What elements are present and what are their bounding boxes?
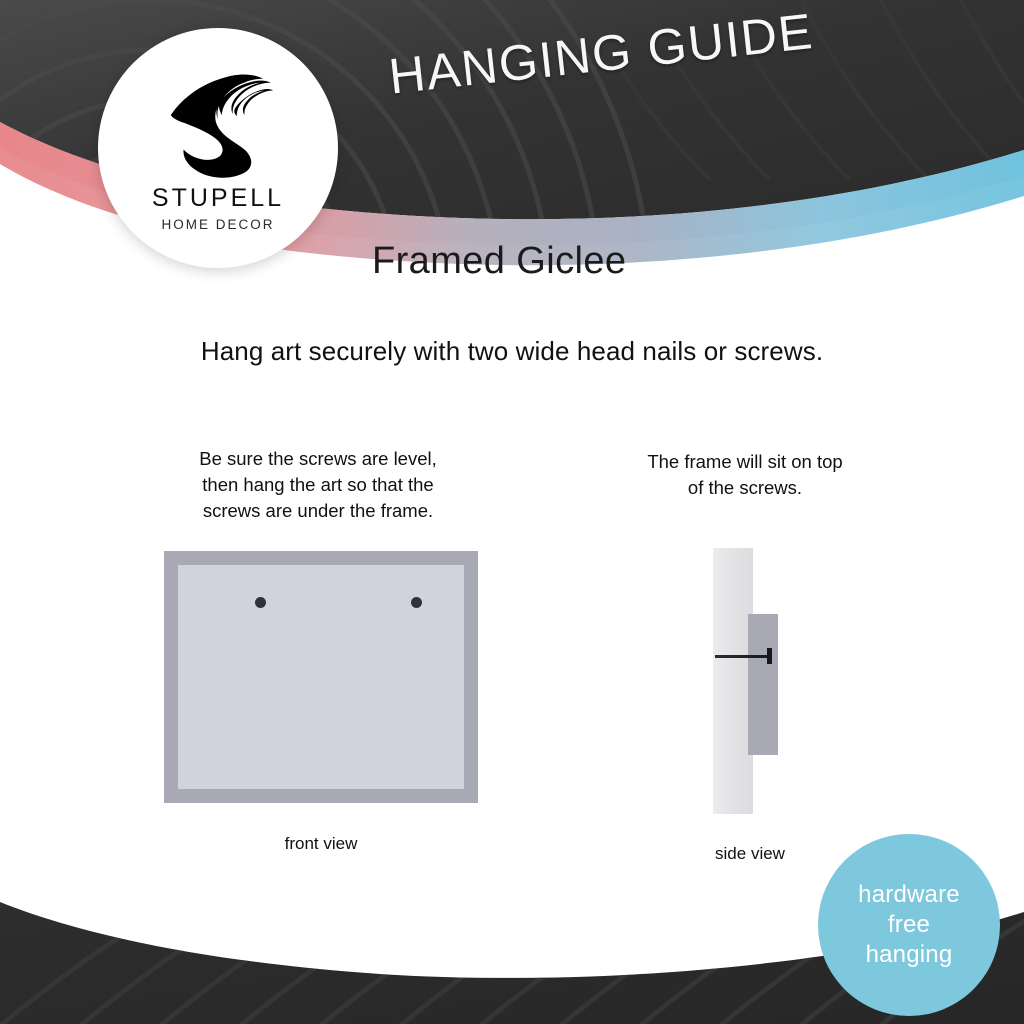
caption-line: Be sure the screws are level, <box>168 446 468 472</box>
side-view-label: side view <box>655 844 845 864</box>
product-name: Framed Giclee <box>372 240 626 283</box>
nail-icon <box>715 653 775 659</box>
brand-name: STUPELL <box>152 186 284 211</box>
side-view-caption: The frame will sit on top of the screws. <box>600 449 890 501</box>
caption-line: The frame will sit on top <box>600 449 890 475</box>
badge-line: free <box>888 910 930 940</box>
nail-shaft <box>715 655 771 658</box>
hardware-free-hanging-badge: hardware free hanging <box>818 834 1000 1016</box>
stupell-swoosh-logo-icon <box>159 62 277 180</box>
front-view-caption: Be sure the screws are level, then hang … <box>168 446 468 524</box>
screw-dot-right <box>411 597 422 608</box>
main-instruction: Hang art securely with two wide head nai… <box>0 336 1024 367</box>
caption-line: then hang the art so that the <box>168 472 468 498</box>
caption-line: of the screws. <box>600 475 890 501</box>
frame-edge-strip <box>748 614 778 755</box>
brand-tagline: HOME DECOR <box>161 218 274 232</box>
page-title: HANGING GUIDE <box>386 2 816 106</box>
hanging-guide-page: STUPELL HOME DECOR HANGING GUIDE Framed … <box>0 0 1024 1024</box>
caption-line: screws are under the frame. <box>168 498 468 524</box>
screw-dot-left <box>255 597 266 608</box>
nail-head <box>767 648 772 664</box>
frame-art-panel <box>178 565 464 789</box>
front-view-label: front view <box>164 834 478 854</box>
side-view-diagram <box>690 540 810 820</box>
brand-logo-badge: STUPELL HOME DECOR <box>98 28 338 268</box>
front-view-diagram <box>164 551 478 803</box>
badge-line: hanging <box>866 940 953 970</box>
wall-strip <box>713 548 753 814</box>
badge-line: hardware <box>858 880 960 910</box>
